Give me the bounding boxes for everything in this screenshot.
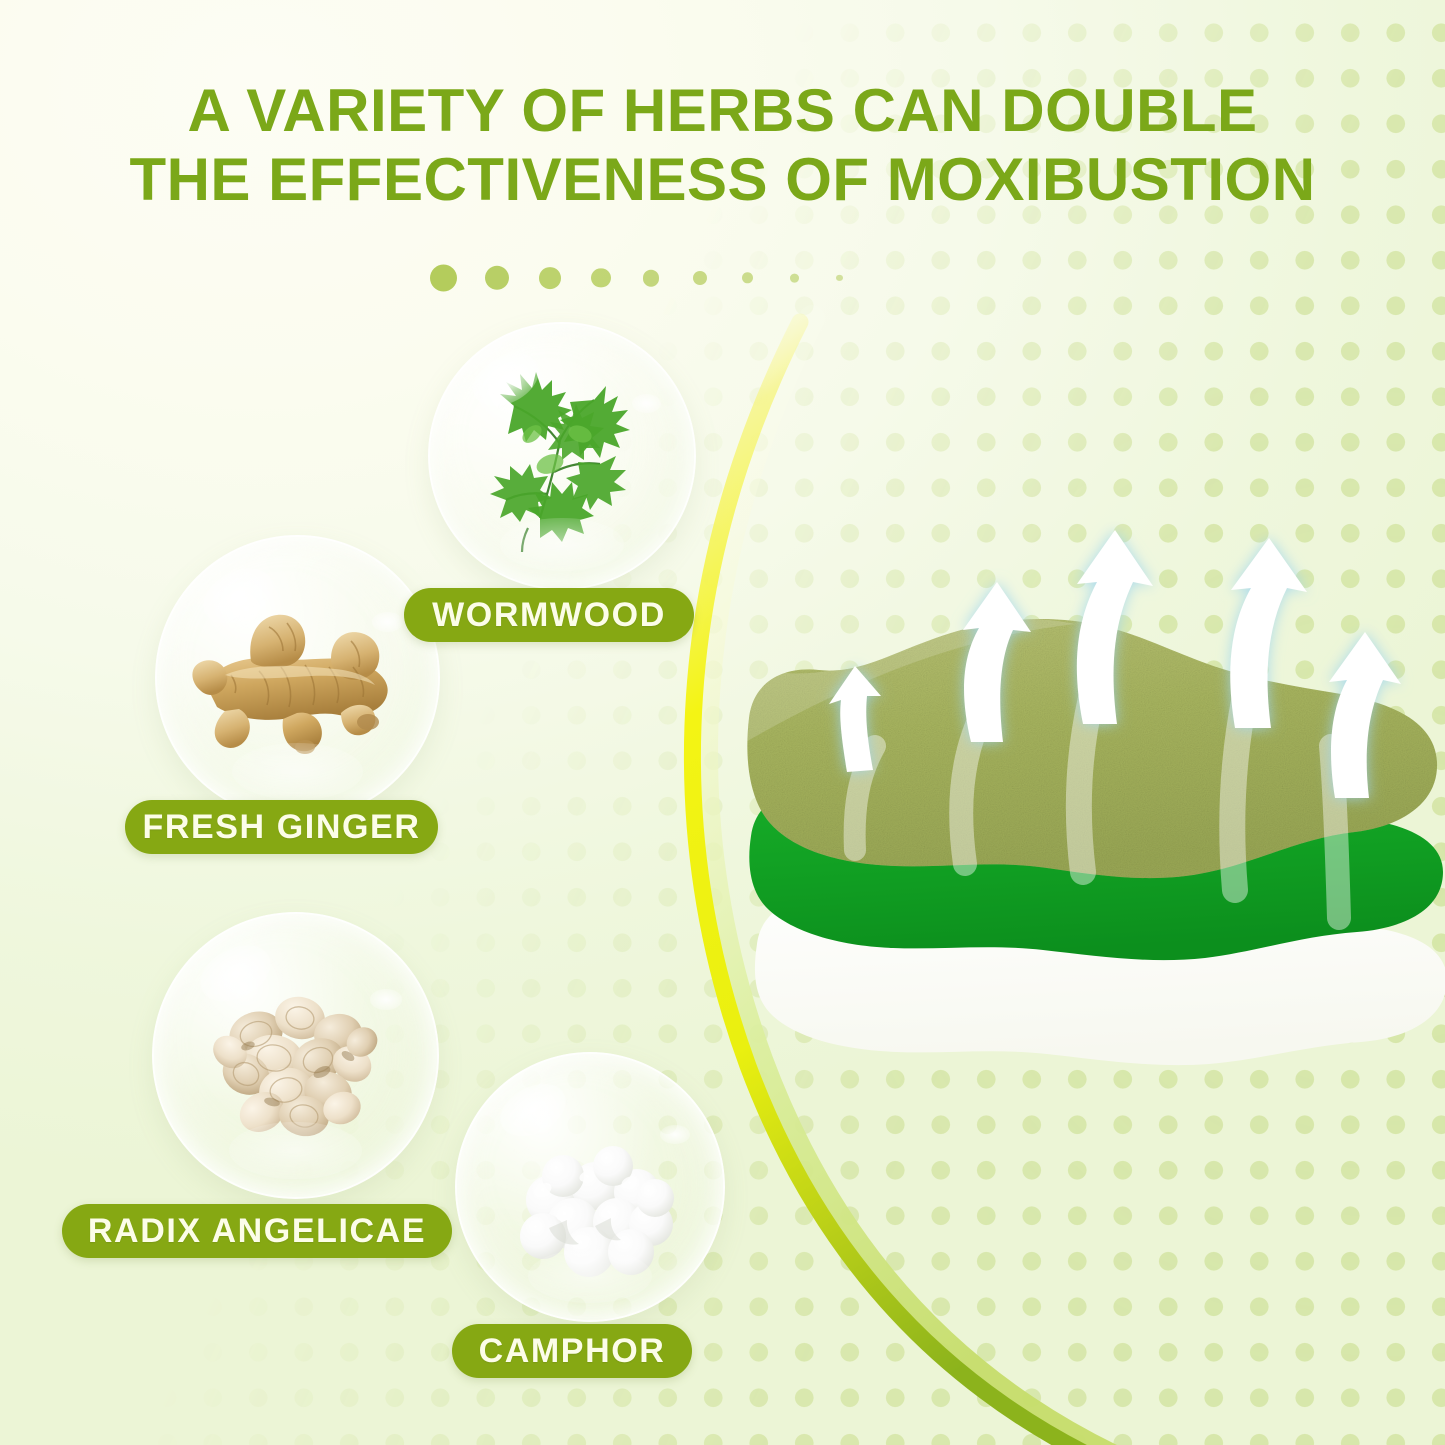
ingredient-label-wormwood-text: WORMWOOD bbox=[432, 596, 666, 635]
ingredient-label-fresh-ginger: FRESH GINGER bbox=[125, 800, 438, 854]
page-title: A VARIETY OF HERBS CAN DOUBLE THE EFFECT… bbox=[0, 76, 1445, 214]
bubble-highlight-bottom bbox=[229, 1122, 361, 1179]
decor-dot bbox=[742, 272, 753, 283]
ingredient-label-camphor: CAMPHOR bbox=[452, 1324, 692, 1378]
decor-dot bbox=[790, 274, 799, 283]
bubble-highlight-bottom bbox=[500, 518, 623, 572]
bubble-highlight-secondary bbox=[632, 394, 661, 413]
decor-dot bbox=[693, 271, 707, 285]
ingredient-label-wormwood: WORMWOOD bbox=[404, 588, 694, 642]
bubble-highlight-bottom bbox=[528, 1249, 652, 1303]
moxibustion-herbal-patch bbox=[735, 520, 1445, 1100]
bubble-highlight-secondary bbox=[370, 989, 402, 1009]
decorative-dot-row bbox=[430, 258, 900, 298]
decor-dot bbox=[591, 268, 610, 287]
ingredient-label-fresh-ginger-text: FRESH GINGER bbox=[142, 808, 420, 847]
ingredient-label-radix-angelicae: RADIX ANGELICAE bbox=[62, 1204, 452, 1258]
ingredient-label-camphor-text: CAMPHOR bbox=[479, 1332, 666, 1371]
bubble-highlight-secondary bbox=[372, 612, 403, 632]
ingredient-bubble-wormwood bbox=[428, 322, 696, 590]
decor-dot bbox=[539, 267, 561, 289]
decor-dot bbox=[430, 265, 457, 292]
decor-dot bbox=[485, 266, 509, 290]
decor-dot bbox=[643, 270, 660, 287]
title-line-1: A VARIETY OF HERBS CAN DOUBLE bbox=[0, 76, 1445, 145]
bubble-highlight-bottom bbox=[232, 743, 363, 800]
title-line-2: THE EFFECTIVENESS OF MOXIBUSTION bbox=[0, 145, 1445, 214]
ingredient-bubble-fresh-ginger bbox=[155, 535, 440, 820]
infographic-poster: A VARIETY OF HERBS CAN DOUBLE THE EFFECT… bbox=[0, 0, 1445, 1445]
bubble-highlight-secondary bbox=[660, 1125, 690, 1144]
ingredient-label-radix-angelicae-text: RADIX ANGELICAE bbox=[88, 1212, 426, 1251]
ingredient-bubble-radix-angelicae bbox=[152, 912, 439, 1199]
ingredient-bubble-camphor bbox=[455, 1052, 725, 1322]
decor-dot bbox=[836, 275, 842, 281]
